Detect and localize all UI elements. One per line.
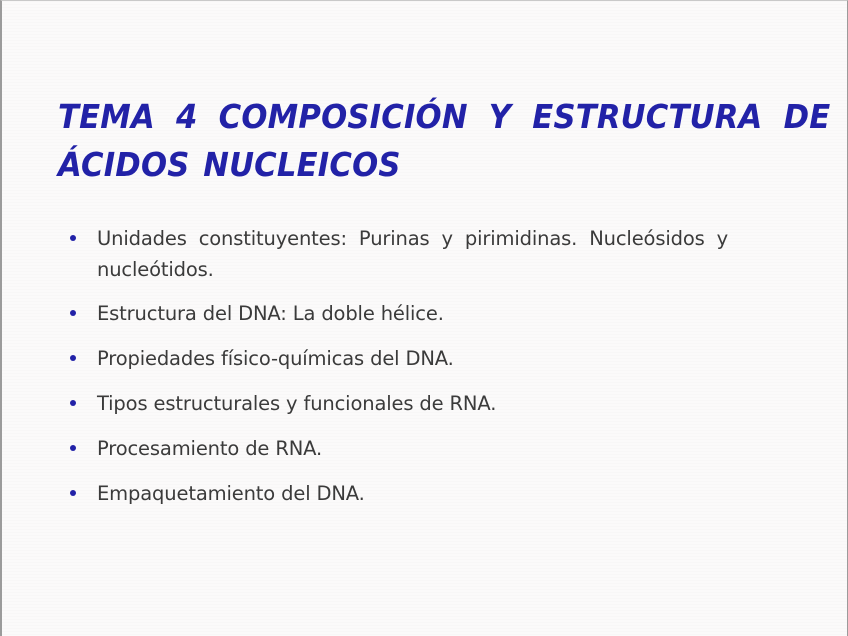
slide-title-line-1: TEMA 4 COMPOSICIÓN Y ESTRUCTURA DE: [58, 93, 741, 141]
list-item-label: Procesamiento de RNA.: [97, 433, 728, 464]
presentation-slide: TEMA 4 COMPOSICIÓN Y ESTRUCTURA DE ÁCIDO…: [0, 0, 848, 636]
list-item: Procesamiento de RNA.: [68, 433, 728, 464]
bullet-dot-icon: [70, 235, 76, 241]
slide-bullet-list: Unidades constituyentes: Purinas y pirim…: [68, 223, 728, 509]
list-item: Propiedades físico-químicas del DNA.: [68, 343, 728, 374]
bullet-dot-icon: [70, 445, 76, 451]
list-item: Estructura del DNA: La doble hélice.: [68, 298, 728, 329]
slide-title: TEMA 4 COMPOSICIÓN Y ESTRUCTURA DE ÁCIDO…: [58, 93, 792, 189]
list-item: Empaquetamiento del DNA.: [68, 478, 728, 509]
list-item: Tipos estructurales y funcionales de RNA…: [68, 388, 728, 419]
slide-title-line-2: ÁCIDOS NUCLEICOS: [58, 141, 741, 189]
list-item-label: Unidades constituyentes: Purinas y pirim…: [97, 223, 728, 285]
bullet-dot-icon: [70, 400, 76, 406]
list-item-label: Estructura del DNA: La doble hélice.: [97, 298, 728, 329]
bullet-dot-icon: [70, 355, 76, 361]
list-item-label: Propiedades físico-químicas del DNA.: [97, 343, 728, 374]
list-item-label: Empaquetamiento del DNA.: [97, 478, 728, 509]
list-item-label: Tipos estructurales y funcionales de RNA…: [97, 388, 728, 419]
bullet-dot-icon: [70, 490, 76, 496]
bullet-dot-icon: [70, 310, 76, 316]
list-item: Unidades constituyentes: Purinas y pirim…: [68, 223, 728, 285]
